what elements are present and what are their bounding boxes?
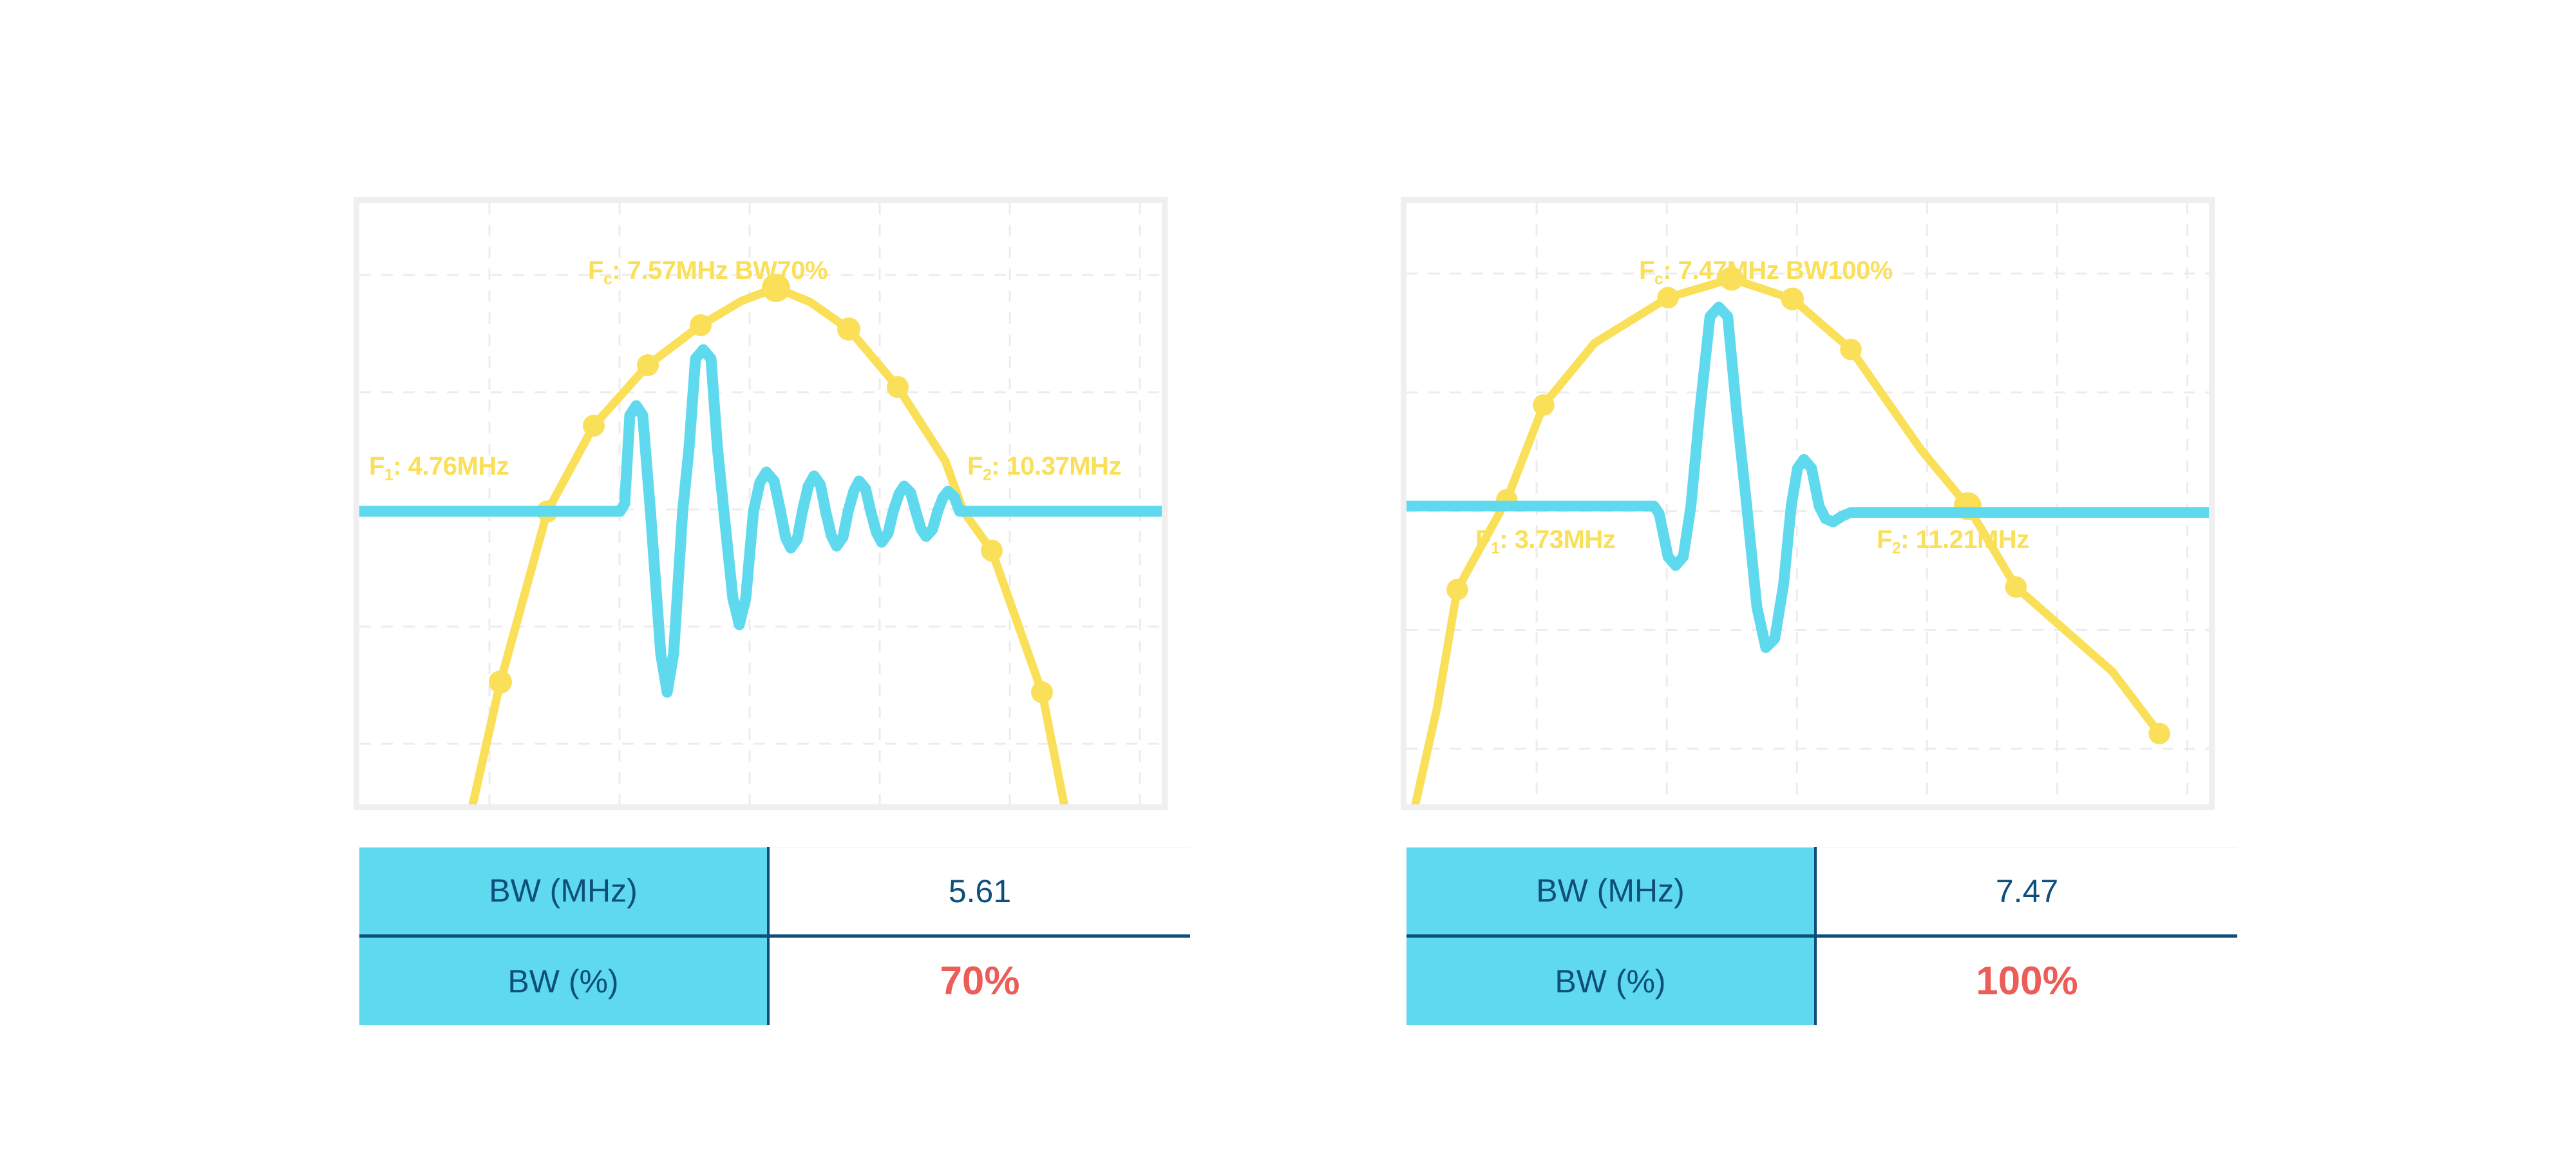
chart-left [359,203,1162,804]
annotation-f2-sub-left: 2 [983,467,991,484]
annotation-f2-right: F2: 11.21MHz [1877,527,2029,557]
bw-mhz-value-left: 5.61 [768,847,1190,936]
plot-frame-left [354,197,1168,810]
annotation-f1-sub-left: 1 [384,467,393,484]
annotation-center-left: Fc: 7.57MHz BW70% [588,258,828,288]
annotation-f1-text-right: : 3.73MHz [1499,525,1615,554]
annotation-f1-symbol-right: F [1475,525,1491,554]
bw-mhz-label-left: BW (MHz) [359,847,768,936]
annotation-f2-left: F2: 10.37MHz [967,453,1121,484]
table-row: BW (%) 70% [359,936,1190,1025]
annotation-center-right: Fc: 7.47MHz BW100% [1639,258,1893,288]
rf-pulse-left [359,350,1162,692]
annotation-f2-symbol-left: F [967,452,983,480]
table-row: BW (MHz) 5.61 [359,847,1190,936]
annotation-f1-sub-right: 1 [1491,540,1499,558]
annotation-f1-symbol-left: F [369,452,384,480]
plot-area-left [359,203,1162,804]
rf-pulse-right [1406,307,2209,648]
bw-table-left: BW (MHz) 5.61 BW (%) 70% [359,847,1190,1025]
bw-table-right: BW (MHz) 7.47 BW (%) 100% [1406,847,2237,1025]
annotation-center-symbol-left: F [588,256,603,285]
plot-area-right [1406,203,2209,804]
annotation-f1-left: F1: 4.76MHz [369,453,509,484]
annotation-center-text-right: : 7.47MHz BW100% [1663,256,1893,285]
bw-mhz-label-right: BW (MHz) [1406,847,1815,936]
annotation-center-text-left: : 7.57MHz BW70% [612,256,828,285]
chart-right [1406,203,2209,804]
bw-pct-value-right: 100% [1815,936,2237,1025]
plot-frame-right [1401,197,2215,810]
annotation-f1-text-left: : 4.76MHz [393,452,509,480]
annotation-center-sub-right: c [1654,271,1663,288]
table-row: BW (MHz) 7.47 [1406,847,2237,936]
annotation-center-sub-left: c [603,271,612,288]
spectrum-curve-left [470,288,1066,804]
annotation-center-symbol-right: F [1639,256,1654,285]
bw-pct-label-right: BW (%) [1406,936,1815,1025]
annotation-f2-text-left: : 10.37MHz [991,452,1121,480]
annotation-f2-symbol-right: F [1877,525,1892,554]
table-row: BW (%) 100% [1406,936,2237,1025]
annotation-f2-text-right: : 11.21MHz [1900,525,2029,554]
bw-mhz-value-right: 7.47 [1815,847,2237,936]
bw-pct-label-left: BW (%) [359,936,768,1025]
bw-pct-value-left: 70% [768,936,1190,1025]
annotation-f1-right: F1: 3.73MHz [1475,527,1615,557]
annotation-f2-sub-right: 2 [1892,540,1900,558]
